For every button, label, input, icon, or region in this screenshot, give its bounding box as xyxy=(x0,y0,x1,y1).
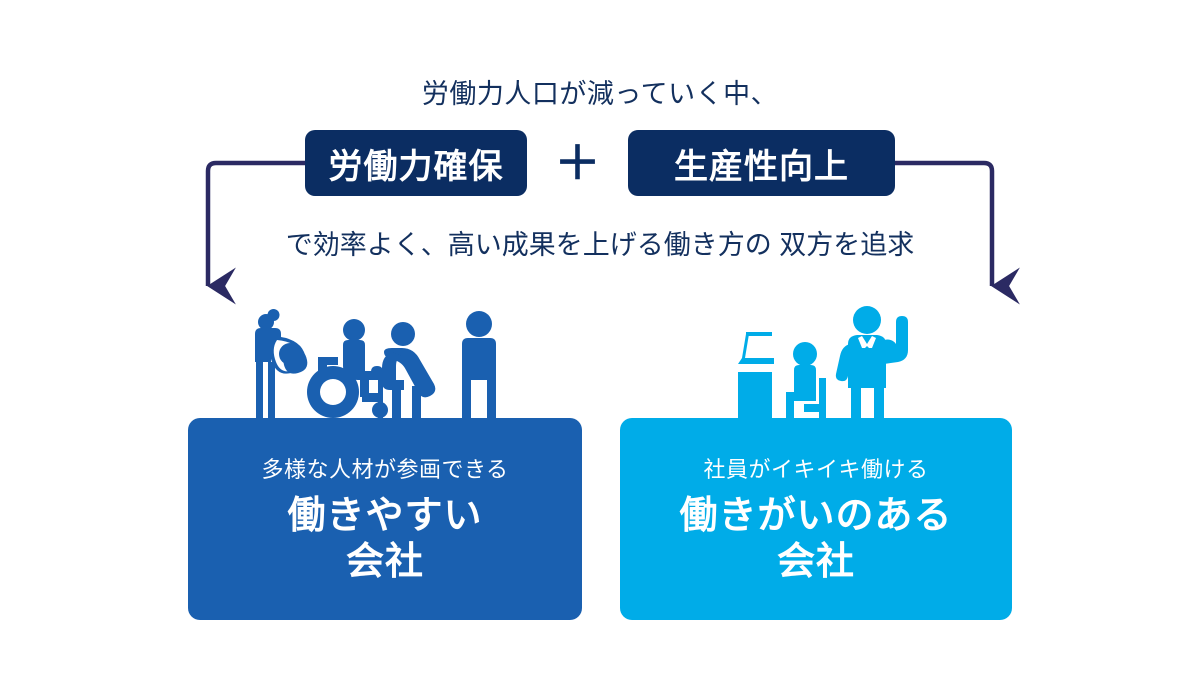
mid-caption: で効率よく、高い成果を上げる働き方の 双方を追求 xyxy=(0,226,1200,264)
card-left-subtitle: 多様な人材が参画できる xyxy=(261,452,508,484)
pill-productivity-improvement[interactable]: 生産性向上 xyxy=(628,130,895,196)
top-caption: 労働力人口が減っていく中、 xyxy=(0,72,1200,111)
left-figure-group xyxy=(240,300,520,428)
card-left-title: 働きやすい 会社 xyxy=(287,494,482,585)
card-rewarding-work[interactable]: 社員がイキイキ働ける 働きがいのある 会社 xyxy=(620,418,1012,620)
suited-person-raising-hand-icon xyxy=(836,306,908,418)
pill-labor-securing[interactable]: 労働力確保 xyxy=(305,130,527,196)
seated-worker-icon xyxy=(786,342,826,418)
right-figure-group xyxy=(720,300,920,428)
standing-person-icon xyxy=(462,311,496,418)
elderly-with-cane-icon xyxy=(371,322,435,418)
woman-with-baby-icon xyxy=(255,309,307,418)
right-connector-path xyxy=(890,163,992,286)
card-right-subtitle: 社員がイキイキ働ける xyxy=(703,452,928,484)
left-connector-path xyxy=(208,163,310,286)
plus-icon: ＋ xyxy=(527,130,628,196)
card-right-title: 働きがいのある 会社 xyxy=(679,494,952,585)
laptop-on-desk-icon xyxy=(738,332,774,418)
slide-canvas: 労働力人口が減っていく中、 労働力確保 ＋ 生産性向上 で効率よく、高い成果を上… xyxy=(0,0,1200,700)
card-easy-to-work[interactable]: 多様な人材が参画できる 働きやすい 会社 xyxy=(188,418,582,620)
